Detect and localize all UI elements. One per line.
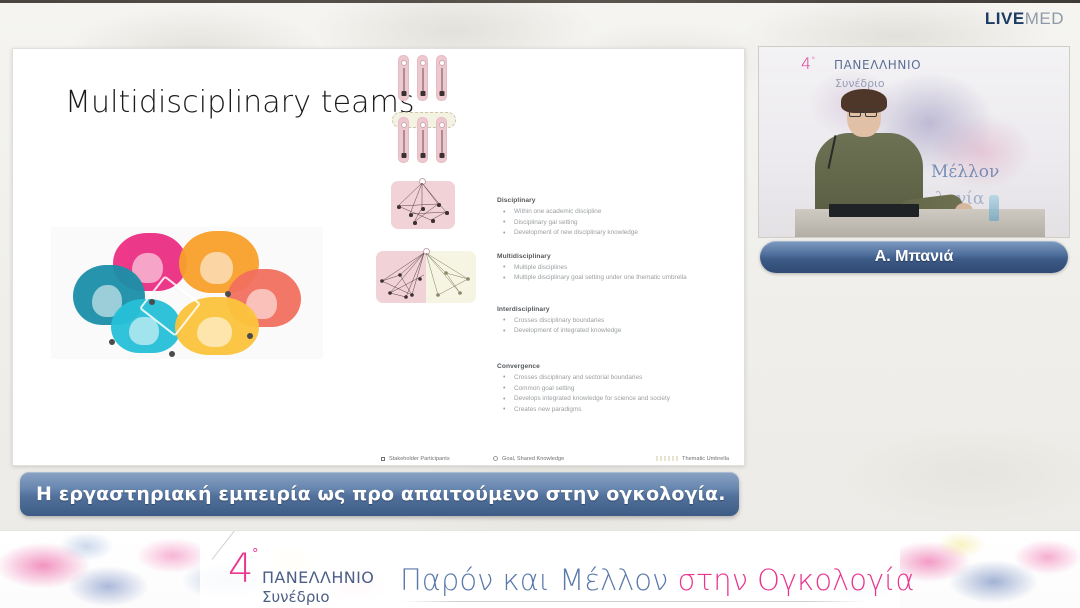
legend-label: Stakeholder Participants: [389, 456, 450, 462]
bullet-item: Develops integrated knowledge for scienc…: [497, 394, 727, 405]
group-heading: Disciplinary: [497, 197, 727, 204]
slide-title: Multidisciplinary teams: [65, 85, 415, 120]
bullet-groups: Disciplinary Within one academic discipl…: [497, 197, 727, 425]
interdisciplinary-network: [391, 181, 455, 229]
banner-tagline: Παρόν και Μέλλον στην Ογκολογία: [400, 563, 914, 597]
session-title-bar: Η εργαστηριακή εμπειρία ως προ απαιτούμε…: [20, 472, 739, 516]
group-convergence: Convergence Crosses disciplinary and sec…: [497, 363, 727, 415]
pink-bar-icon: [493, 465, 515, 466]
banner-panellinio: ΠΑΝΕΛΛΗΝΙΟ: [262, 568, 374, 587]
group-interdisciplinary: Interdisciplinary Crosses disciplinary b…: [497, 306, 727, 337]
tagline-part-2: Μέλλον: [559, 563, 677, 597]
connector-dot: [247, 333, 253, 339]
bullet-item: Development of integrated knowledge: [497, 326, 727, 337]
top-rule: [0, 0, 1080, 3]
group-heading: Multidisciplinary: [497, 253, 727, 260]
discipline-bar: [436, 55, 447, 101]
discipline-bar: [398, 55, 409, 101]
discipline-bar: [436, 117, 447, 163]
discipline-bar: [417, 55, 428, 101]
speaker-video-panel[interactable]: 4° ΠΑΝΕΛΛΗΝΙΟ Συνέδριο Μέλλον λογία: [758, 46, 1070, 238]
legend-item-thematic-umbrella: Thematic Umbrella: [656, 454, 729, 463]
video-frame: 4° ΠΑΝΕΛΛΗΝΙΟ Συνέδριο Μέλλον λογία: [759, 47, 1069, 237]
podium-laptop: [829, 204, 919, 217]
backdrop-panellinio: ΠΑΝΕΛΛΗΝΙΟ: [834, 58, 921, 72]
banner-tagline-rule: [400, 601, 865, 602]
presentation-slide[interactable]: Multidisciplinary teams: [12, 48, 745, 466]
connector-dot: [109, 339, 115, 345]
cream-bar-icon: [641, 465, 663, 466]
water-bottle: [989, 195, 999, 221]
livemed-logo-med: MED: [1025, 9, 1064, 28]
diagram-legend: Stakeholder Participants Goal, Shared Kn…: [381, 454, 729, 466]
session-title: Η εργαστηριακή εμπειρία ως προ απαιτούμε…: [20, 483, 726, 505]
discipline-bar: [417, 117, 428, 163]
legend-label: Discipline: [390, 465, 414, 467]
legend-item-goal: Goal, Shared Knowledge: [493, 454, 615, 463]
tagline-part-3: στην Ογκολογία: [677, 563, 914, 597]
legend-item-academic-knowledge: Academic Knowledge: [493, 463, 615, 466]
group-heading: Convergence: [497, 363, 727, 370]
legend-item-discipline: Discipline: [381, 463, 493, 466]
square-open-icon: [381, 457, 385, 461]
backdrop-synedrio: Συνέδριο: [835, 77, 885, 90]
dot-filled-icon: [381, 465, 386, 466]
group-heading: Interdisciplinary: [497, 306, 727, 313]
circle-open-icon: [493, 456, 498, 461]
backdrop-number: 4°: [801, 54, 815, 73]
bullet-item: Within one academic discipline: [497, 207, 727, 218]
bullet-item: Crosses disciplinary and sectorial bound…: [497, 373, 727, 384]
livemed-logo-live: LIVE: [985, 9, 1025, 28]
speaker-glasses: [849, 109, 879, 117]
legend-item-stakeholder: Stakeholder Participants: [381, 454, 493, 463]
connector-dot: [169, 351, 175, 357]
banner-content: 4 ° ΠΑΝΕΛΛΗΝΙΟ Συνέδριο Παρόν και Μέλλον…: [0, 531, 1080, 608]
backdrop-mellon: Μέλλον: [931, 162, 999, 182]
legend-label: Thematic Umbrella: [682, 456, 729, 462]
dotted-bar-icon: [656, 456, 678, 461]
discipline-bar: [398, 117, 409, 163]
connector-dot: [225, 291, 231, 297]
multidisciplinary-heads-illustration: [51, 227, 323, 359]
legend-label: Conventional Knowledge: [667, 465, 729, 467]
legend-label: Academic Knowledge: [519, 465, 573, 467]
convergence-network: [376, 249, 476, 305]
bullet-item: Crosses disciplinary boundaries: [497, 316, 727, 327]
bullet-item: Development of new disciplinary knowledg…: [497, 228, 727, 239]
bullet-item: Multiple disciplines: [497, 263, 727, 274]
bullet-item: Creates new paradigms: [497, 405, 727, 416]
conference-banner: 4 ° ΠΑΝΕΛΛΗΝΙΟ Συνέδριο Παρόν και Μέλλον…: [0, 530, 1080, 608]
banner-synedrio: Συνέδριο: [262, 588, 330, 606]
connector-dot: [149, 299, 155, 305]
group-disciplinary: Disciplinary Within one academic discipl…: [497, 197, 727, 239]
group-multidisciplinary: Multidisciplinary Multiple disciplines M…: [497, 253, 727, 284]
bullet-item: Disciplinary gal setting: [497, 218, 727, 229]
speaker-name: Α. Μπανιά: [875, 248, 954, 266]
banner-degree: °: [252, 547, 259, 562]
diagram-interdisciplinary: [391, 181, 455, 229]
legend-item-conventional-knowledge: Conventional Knowledge: [641, 463, 729, 466]
speaker-name-badge: Α. Μπανιά: [760, 241, 1068, 273]
bullet-item: Common goal setting: [497, 384, 727, 395]
banner-number: 4: [228, 549, 253, 589]
bullet-item: Multiple disciplinary goal setting under…: [497, 273, 727, 284]
livemed-logo[interactable]: LIVEMED: [985, 9, 1064, 29]
legend-label: Goal, Shared Knowledge: [502, 456, 564, 462]
tagline-part-1: Παρόν και: [400, 563, 559, 597]
